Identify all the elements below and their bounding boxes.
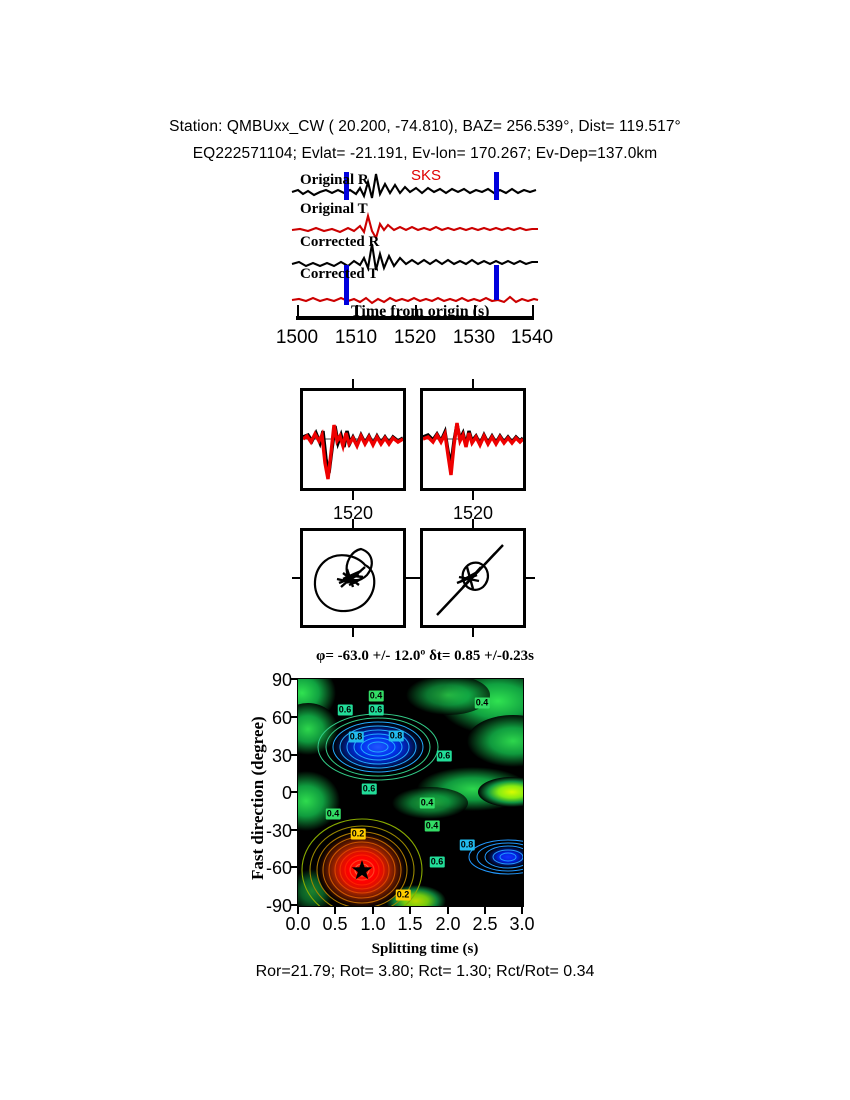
contour-y-tick-label: 60 (250, 708, 292, 729)
quality-stats-line: Ror=21.79; Rot= 3.80; Rct= 1.30; Rct/Rot… (0, 963, 850, 981)
pm-tick (472, 519, 474, 528)
contour-x-tick (447, 906, 449, 914)
pm-tick (352, 628, 354, 637)
window-marker-end-bottom (494, 265, 499, 300)
particle-motion-linear (423, 531, 523, 625)
trace-label-original-t: Original T (300, 201, 368, 218)
contour-label: 0.4 (326, 809, 341, 820)
contour-x-tick (372, 906, 374, 914)
contour-y-tick-label: -60 (250, 858, 292, 879)
contour-y-tick-label: 90 (250, 670, 292, 691)
trace-label-corrected-t: Corrected T (300, 266, 378, 283)
contour-label: 0.8 (460, 840, 475, 851)
contour-label: 0.4 (475, 698, 490, 709)
contour-label: 0.2 (351, 829, 366, 840)
window-marker-end-top (494, 172, 499, 200)
contour-y-tick-label: 30 (250, 746, 292, 767)
particle-motion-ellipse (303, 531, 403, 625)
contour-y-tick (290, 866, 298, 868)
contour-label: 0.8 (349, 732, 364, 743)
contour-label: 0.6 (338, 705, 353, 716)
time-tick (532, 305, 534, 317)
corrected-particle-motion (420, 528, 526, 628)
time-tick-label: 1510 (326, 327, 386, 349)
pm-tick (472, 628, 474, 637)
contour-label: 0.8 (389, 731, 404, 742)
contour-label: 0.4 (420, 798, 435, 809)
trace-label-corrected-r: Corrected R (300, 234, 379, 251)
uncorrected-particle-motion (300, 528, 406, 628)
pm-tick (412, 577, 421, 579)
time-tick-label: 1530 (444, 327, 504, 349)
contour-y-tick-label: 0 (250, 783, 292, 804)
contour-y-tick (290, 791, 298, 793)
splitting-result-text: φ= -63.0 +/- 12.0º δt= 0.85 +/-0.23s (0, 648, 850, 665)
contour-x-tick (521, 906, 523, 914)
contour-label: 0.6 (430, 857, 445, 868)
station-header-line: Station: QMBUxx_CW ( 20.200, -74.810), B… (0, 118, 850, 136)
contour-x-tick (297, 906, 299, 914)
contour-y-tick (290, 829, 298, 831)
time-tick-label: 1520 (385, 327, 445, 349)
contour-y-tick (290, 716, 298, 718)
contour-x-tick (484, 906, 486, 914)
time-tick-label: 1540 (502, 327, 562, 349)
fast-slow-comparison-box-left (300, 388, 406, 491)
fast-slow-comparison-box-right (420, 388, 526, 491)
pm-tick (292, 577, 301, 579)
contour-y-tick-label: -30 (250, 821, 292, 842)
pm-tick (352, 519, 354, 528)
contour-x-tick-label: 3.0 (500, 914, 544, 935)
contour-y-tick (290, 678, 298, 680)
time-tick-label: 1500 (267, 327, 327, 349)
contour-x-tick (409, 906, 411, 914)
time-tick (297, 305, 299, 317)
contour-label: 0.4 (425, 821, 440, 832)
contour-label: 0.6 (437, 751, 452, 762)
contour-label: 0.4 (369, 691, 384, 702)
event-header-line: EQ222571104; Evlat= -21.191, Ev-lon= 170… (0, 145, 850, 163)
contour-label: 0.6 (369, 705, 384, 716)
contour-label: 0.6 (362, 784, 377, 795)
comparison-waves-right (423, 391, 523, 488)
pm-tick (526, 577, 535, 579)
comparison-tick (352, 491, 354, 500)
contour-plot: 0.4 0.6 0.6 0.4 0.8 0.8 0.6 0.6 0.4 0.4 … (297, 678, 524, 907)
comparison-tick (472, 379, 474, 388)
error-surface (298, 679, 523, 906)
contour-y-tick (290, 754, 298, 756)
contour-label: 0.2 (396, 890, 411, 901)
contour-x-axis-label: Splitting time (s) (0, 941, 850, 958)
phase-label-sks: SKS (411, 167, 441, 184)
trace-label-original-r: Original R (300, 172, 369, 189)
comparison-tick (352, 379, 354, 388)
time-axis-title: Time from origin (s) (351, 303, 490, 321)
comparison-waves-left (303, 391, 403, 488)
contour-x-tick (334, 906, 336, 914)
comparison-tick (472, 491, 474, 500)
